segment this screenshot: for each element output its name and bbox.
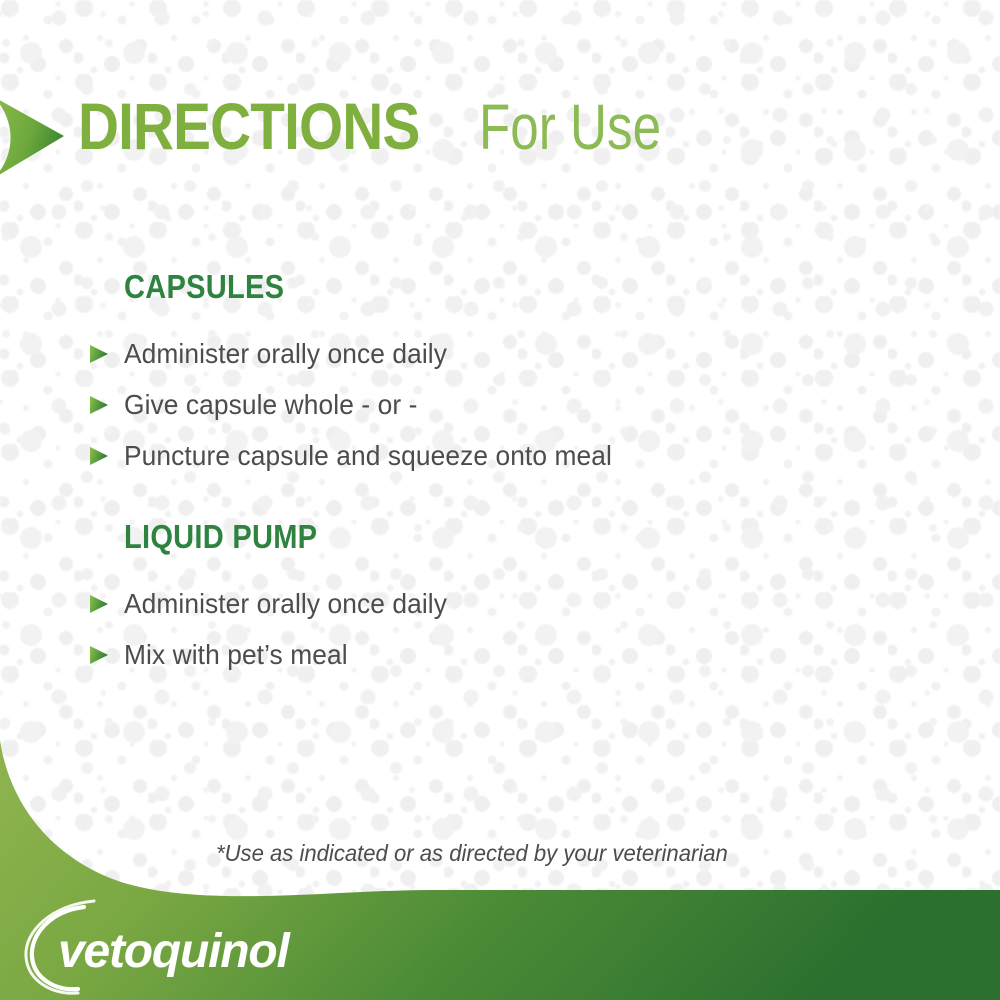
triangle-bullet-icon (88, 446, 110, 466)
list-item: Administer orally once daily (88, 578, 468, 629)
product-directions-panel: DIRECTIONSFor Use CAPSULES Administer or… (0, 0, 1000, 1000)
list-item: Mix with pet’s meal (88, 629, 468, 680)
list-item-label: Mix with pet’s meal (124, 639, 348, 671)
list-item-label: Give capsule whole - or - (124, 389, 417, 421)
list-item-label: Administer orally once daily (124, 588, 447, 620)
list-item: Administer orally once daily (88, 328, 643, 379)
triangle-bullet-icon (88, 395, 110, 415)
page-title-light: For Use (479, 90, 661, 164)
list-item-label: Puncture capsule and squeeze onto meal (124, 440, 612, 472)
section-liquid-pump: LIQUID PUMP Administer orally once daily… (124, 518, 468, 680)
footnote-disclaimer: *Use as indicated or as directed by your… (216, 840, 728, 867)
bullet-list-capsules: Administer orally once daily Give capsul… (124, 328, 643, 481)
logo-wordmark: vetoquinol (58, 925, 292, 978)
triangle-bullet-icon (88, 645, 110, 665)
section-heading-liquid-pump: LIQUID PUMP (124, 518, 426, 556)
bullet-list-liquid-pump: Administer orally once daily Mix with pe… (124, 578, 468, 680)
page-title-strong: DIRECTIONS (78, 88, 419, 164)
section-heading-capsules: CAPSULES (124, 268, 581, 306)
vetoquinol-logo: vetoquinol (22, 895, 322, 995)
section-capsules: CAPSULES Administer orally once daily (124, 268, 643, 481)
list-item: Puncture capsule and squeeze onto meal (88, 430, 643, 481)
list-item: Give capsule whole - or - (88, 379, 643, 430)
list-item-label: Administer orally once daily (124, 338, 447, 370)
triangle-bullet-icon (88, 344, 110, 364)
triangle-bullet-icon (88, 594, 110, 614)
page-title: DIRECTIONSFor Use (78, 88, 707, 164)
